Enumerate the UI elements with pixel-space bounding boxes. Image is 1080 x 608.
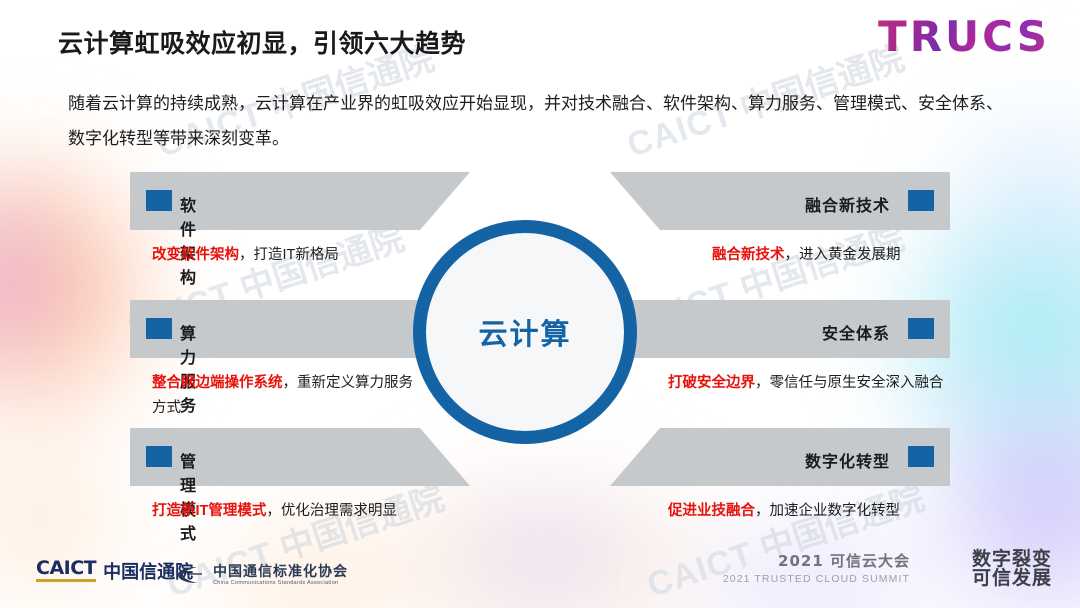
bullet-square-icon xyxy=(908,446,934,467)
ccsa-english-name: China Communications Standards Associati… xyxy=(213,581,348,587)
bullet-square-icon xyxy=(146,190,172,211)
bullet-square-icon xyxy=(146,318,172,339)
page-title: 云计算虹吸效应初显，引领六大趋势 xyxy=(58,24,466,60)
item-title: 软件架构 xyxy=(180,192,197,288)
item-description-highlight: 整合网边端操作系统 xyxy=(152,375,283,391)
summit-slogan: 数字裂变 可信发展 xyxy=(972,550,1052,588)
summit-branding: 2021 可信云大会 2021 TRUSTED CLOUD SUMMIT xyxy=(723,554,910,585)
item-description-rest: ，加速企业数字化转型 xyxy=(755,503,900,519)
ccsa-chinese-name: 中国通信标准化协会 xyxy=(213,564,348,578)
bullet-square-icon xyxy=(146,446,172,467)
item-title: 融合新技术 xyxy=(718,192,890,216)
bullet-square-icon xyxy=(908,190,934,211)
item-description-highlight: 融合新技术 xyxy=(712,247,785,263)
summit-english-title: 2021 TRUSTED CLOUD SUMMIT xyxy=(723,574,910,585)
slide-footer: CAICT 中国信通院 中国通信标准化协会 China Communicatio… xyxy=(0,544,1080,608)
item-description-highlight: 改变软件架构 xyxy=(152,247,239,263)
item-description: 改变软件架构，打造IT新格局 xyxy=(152,243,472,268)
bullet-square-icon xyxy=(908,318,934,339)
item-title: 管理模式 xyxy=(180,448,197,544)
ccsa-logo: 中国通信标准化协会 China Communications Standards… xyxy=(175,564,348,587)
item-description-rest: ，打造IT新格局 xyxy=(239,247,339,263)
slide-content: 云计算虹吸效应初显，引领六大趋势 TRUCS 随着云计算的持续成熟，云计算在产业… xyxy=(0,0,1080,608)
trucs-logo: TRUCS xyxy=(878,12,1050,61)
slogan-line-1: 数字裂变 xyxy=(972,550,1052,569)
caict-logo: CAICT 中国信通院 xyxy=(36,559,193,582)
intro-paragraph: 随着云计算的持续成熟，云计算在产业界的虹吸效应开始显现，并对技术融合、软件架构、… xyxy=(68,86,1008,156)
item-description: 融合新技术，进入黄金发展期 xyxy=(712,243,1032,268)
slogan-line-2: 可信发展 xyxy=(972,569,1052,588)
item-description-highlight: 打破安全边界 xyxy=(668,375,755,391)
item-description-rest: ，进入黄金发展期 xyxy=(785,247,901,263)
ccsa-text-block: 中国通信标准化协会 China Communications Standards… xyxy=(213,564,348,587)
item-title: 数字化转型 xyxy=(700,448,890,472)
funnel-diagram: 云计算 软件架构 改变软件架构，打造IT新格局 算力服务 整合网边端操作系统，重… xyxy=(0,160,1080,540)
item-description: 整合网边端操作系统，重新定义算力服务方式 xyxy=(152,371,420,421)
item-description-highlight: 促进业技融合 xyxy=(668,503,755,519)
item-title: 安全体系 xyxy=(718,320,890,344)
center-node-label: 云计算 xyxy=(478,311,571,353)
item-description: 打造新IT管理模式，优化治理需求明显 xyxy=(152,499,472,524)
item-description-highlight: 打造新IT管理模式 xyxy=(152,503,266,519)
item-description-rest: ，优化治理需求明显 xyxy=(266,503,397,519)
item-description: 打破安全边界，零信任与原生安全深入融合 xyxy=(668,371,1008,396)
item-description: 促进业技融合，加速企业数字化转型 xyxy=(668,499,1008,524)
item-description-rest: ，零信任与原生安全深入融合 xyxy=(755,375,944,391)
ccsa-swoosh-icon xyxy=(175,564,205,586)
summit-chinese-title: 2021 可信云大会 xyxy=(723,554,910,569)
caict-wordmark: CAICT xyxy=(36,559,96,582)
